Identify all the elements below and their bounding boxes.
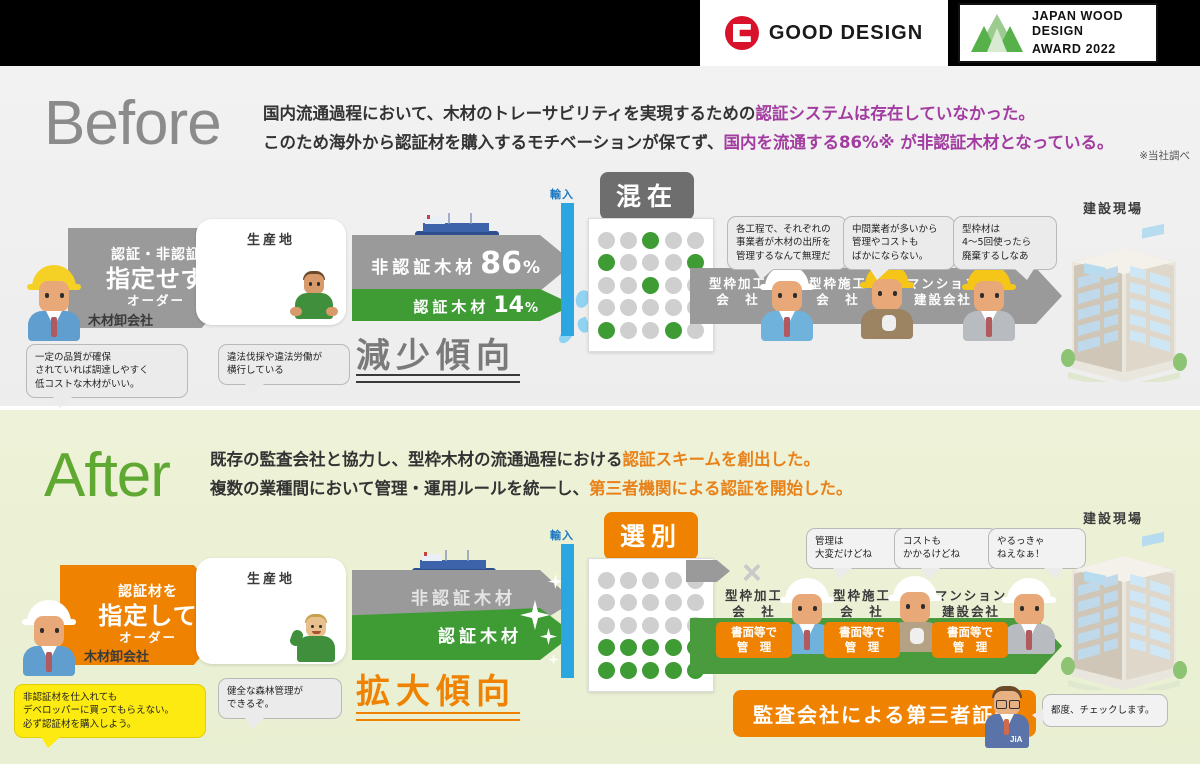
before-lede-line1: 国内流通過程において、木材のトレーサビリティを実現するための認証システムは存在し… xyxy=(263,100,1113,129)
dot-3-0 xyxy=(598,639,615,656)
dot-0-2 xyxy=(642,572,659,589)
dot-0-1 xyxy=(620,232,637,249)
after-sheet-tag-label: 選別 xyxy=(620,522,682,551)
before-forest-title: 生産地 xyxy=(196,229,346,248)
after-mgmt-badge-1: 書面等で 管 理 xyxy=(824,622,900,658)
before-trend: 減少傾向 xyxy=(356,328,516,377)
after-auditor-badge: JiA xyxy=(1010,735,1022,744)
awards-bar: GOOD DESIGN JAPAN WOOD DESIGN AWARD 2022 xyxy=(0,0,1200,66)
dot-2-2 xyxy=(642,617,659,634)
wood-design-line2: AWARD 2022 xyxy=(1032,42,1156,58)
dot-3-2 xyxy=(642,299,659,316)
before-wholesaler-label: 木材卸会社 xyxy=(88,310,153,329)
before-stage-bubble-2: 型枠材は 4〜5回使ったら 廃棄するしなあ xyxy=(953,216,1057,270)
after-order-line2: 指定して xyxy=(98,603,197,629)
infographic-page: GOOD DESIGN JAPAN WOOD DESIGN AWARD 2022… xyxy=(0,0,1200,764)
dot-4-2 xyxy=(642,662,659,679)
before-import-label: 輸入 xyxy=(550,186,574,202)
after-lede: 既存の監査会社と協力し、型枠木材の流通過程における認証スキームを創出した。 複数… xyxy=(210,446,853,504)
dot-2-0 xyxy=(598,617,615,634)
dot-0-1 xyxy=(620,572,637,589)
after-title: After xyxy=(44,440,170,511)
before-supply-uncertified-value: 86 xyxy=(480,246,522,281)
before-sheet-tag: 混在 xyxy=(600,172,694,220)
before-supply-uncertified: 非認証木材 86 % xyxy=(352,235,574,291)
after-building xyxy=(1060,530,1188,695)
dot-1-4 xyxy=(687,594,704,611)
after-supply-certified-name: 認証木材 xyxy=(438,622,574,647)
after-forest-card: 生産地 xyxy=(196,558,346,664)
before-stage-bubble-0: 各工程で、それぞれの 事業者が木材の出所を 管理するなんて無理だ xyxy=(727,216,847,270)
dot-3-2 xyxy=(642,639,659,656)
before-order-line3: オーダー xyxy=(127,294,185,308)
before-lede-line2: このため海外から認証材を購入するモチベーションが保てず、国内を流通する86%※ … xyxy=(263,129,1113,158)
after-auditor-bubble: 都度、チェックします。 xyxy=(1042,694,1168,727)
dot-4-1 xyxy=(620,662,637,679)
dot-1-1 xyxy=(620,594,637,611)
dot-4-0 xyxy=(598,322,615,339)
after-lede-line1-plain: 既存の監査会社と協力し、型枠木材の流通過程における xyxy=(210,450,623,469)
after-sheet-tag: 選別 xyxy=(604,512,698,560)
before-supply-certified-name: 認証木材 xyxy=(413,296,489,317)
dot-2-3 xyxy=(665,617,682,634)
wood-triangle-icon xyxy=(970,13,1024,53)
dot-4-3 xyxy=(665,662,682,679)
before-building xyxy=(1060,222,1188,387)
before-trend-underline xyxy=(356,374,520,383)
before-lede-line1-plain: 国内流通過程において、木材のトレーサビリティを実現するための xyxy=(263,104,755,123)
dot-3-1 xyxy=(620,639,637,656)
after-cross-mark: × xyxy=(742,556,762,590)
before-title: Before xyxy=(44,88,221,159)
after-trend-underline xyxy=(356,712,520,721)
after-order-line1: 認証材を xyxy=(118,585,178,600)
dot-4-1 xyxy=(620,322,637,339)
before-import-bar xyxy=(561,203,574,336)
wood-design-label: JAPAN WOOD DESIGN AWARD 2022 xyxy=(1032,9,1156,58)
before-forest-person xyxy=(292,271,336,321)
dot-4-0 xyxy=(598,662,615,679)
before-forest-bubble: 違法伐採や違法労働が 横行している xyxy=(218,344,350,385)
after-auditor-avatar: JiA xyxy=(982,686,1032,748)
dot-2-1 xyxy=(620,277,637,294)
after-lede-line1-highlight: 認証スキームを創出した。 xyxy=(623,450,821,469)
before-wholesaler-bubble: 一定の品質が確保 されていれば調達しやすく 低コストな木材がいい。 xyxy=(26,344,188,398)
dot-2-1 xyxy=(620,617,637,634)
dot-0-0 xyxy=(598,232,615,249)
before-wholesaler-avatar xyxy=(25,265,83,339)
dot-3-3 xyxy=(665,639,682,656)
after-import-label: 輸入 xyxy=(550,527,574,543)
good-design-award: GOOD DESIGN xyxy=(700,0,948,66)
after-stage-bubble-1: コストも かかるけどね xyxy=(894,528,998,569)
after-forest-title: 生産地 xyxy=(196,568,346,587)
before-stage-avatar-2 xyxy=(960,265,1018,339)
before-footnote: ※当社調べ xyxy=(1139,148,1190,163)
after-stage-avatar-2 xyxy=(1000,578,1058,652)
after-trend: 拡大傾向 xyxy=(356,664,516,713)
after-mgmt-badge-2: 書面等で 管 理 xyxy=(932,622,1008,658)
dot-4-3 xyxy=(665,322,682,339)
good-design-label: GOOD DESIGN xyxy=(769,22,923,45)
dot-0-3 xyxy=(665,572,682,589)
dot-3-3 xyxy=(665,299,682,316)
after-supply-uncertified-name: 非認証木材 xyxy=(411,584,574,609)
after-wholesaler-avatar xyxy=(20,600,78,674)
dot-3-1 xyxy=(620,299,637,316)
before-supply-uncertified-unit: % xyxy=(523,258,540,278)
dot-0-3 xyxy=(665,232,682,249)
before-supply-certified: 認証木材 14 % xyxy=(352,289,574,321)
dot-4-2 xyxy=(642,322,659,339)
japan-wood-design-award: JAPAN WOOD DESIGN AWARD 2022 xyxy=(958,3,1158,63)
before-supply-uncertified-name: 非認証木材 xyxy=(371,253,476,278)
after-wholesaler-bubble: 非認証材を仕入れても デベロッパーに買ってもらえない。 必ず認証材を購入しよう。 xyxy=(14,684,206,738)
dot-1-3 xyxy=(665,594,682,611)
after-lede-line1: 既存の監査会社と協力し、型枠木材の流通過程における認証スキームを創出した。 xyxy=(210,446,853,475)
dot-4-4 xyxy=(687,322,704,339)
after-import-bar xyxy=(561,544,574,678)
dot-1-1 xyxy=(620,254,637,271)
before-order-line1: 認証・非認証 xyxy=(111,248,201,263)
after-lede-line2-highlight: 第三者機関による認証を開始した。 xyxy=(589,479,853,498)
before-stage-bubble-1: 中間業者が多いから 管理やコストも ばかにならない。 xyxy=(843,216,955,270)
before-forest-card: 生産地 xyxy=(196,219,346,325)
before-site-title: 建設現場 xyxy=(1083,198,1143,217)
dot-0-0 xyxy=(598,572,615,589)
after-site-title: 建設現場 xyxy=(1083,508,1143,527)
before-lede: 国内流通過程において、木材のトレーサビリティを実現するための認証システムは存在し… xyxy=(263,100,1113,158)
before-supply-certified-value: 14 xyxy=(493,293,524,318)
before-sheet-tag-label: 混在 xyxy=(616,182,678,211)
dot-3-0 xyxy=(598,299,615,316)
before-supply-certified-unit: % xyxy=(525,301,538,316)
after-order-line3: オーダー xyxy=(119,631,177,645)
dot-1-0 xyxy=(598,594,615,611)
dot-1-0 xyxy=(598,254,615,271)
dot-0-4 xyxy=(687,232,704,249)
before-lede-line1-highlight: 認証システムは存在していなかった。 xyxy=(755,104,1035,123)
before-order-line2: 指定せず xyxy=(106,266,206,292)
after-wholesaler-label: 木材卸会社 xyxy=(84,646,149,665)
after-forest-person xyxy=(292,614,338,662)
after-mgmt-badge-0: 書面等で 管 理 xyxy=(716,622,792,658)
good-design-icon xyxy=(725,16,759,50)
dot-2-2 xyxy=(642,277,659,294)
after-forest-bubble: 健全な森林管理が できるぞ。 xyxy=(218,678,342,719)
dot-2-0 xyxy=(598,277,615,294)
before-lede-line2-plain: このため海外から認証材を購入するモチベーションが保てず、 xyxy=(263,133,724,152)
dot-2-3 xyxy=(665,277,682,294)
wood-design-line1: JAPAN WOOD DESIGN xyxy=(1032,9,1156,40)
dot-1-2 xyxy=(642,254,659,271)
dot-1-3 xyxy=(665,254,682,271)
dot-1-2 xyxy=(642,594,659,611)
before-lede-line2-highlight: 国内を流通する86%※ が非認証木材となっている。 xyxy=(724,133,1114,152)
after-lede-line2-plain: 複数の業種間において管理・運用ルールを統一し、 xyxy=(210,479,589,498)
after-lede-line2: 複数の業種間において管理・運用ルールを統一し、第三者機関による認証を開始した。 xyxy=(210,475,853,504)
dot-0-2 xyxy=(642,232,659,249)
